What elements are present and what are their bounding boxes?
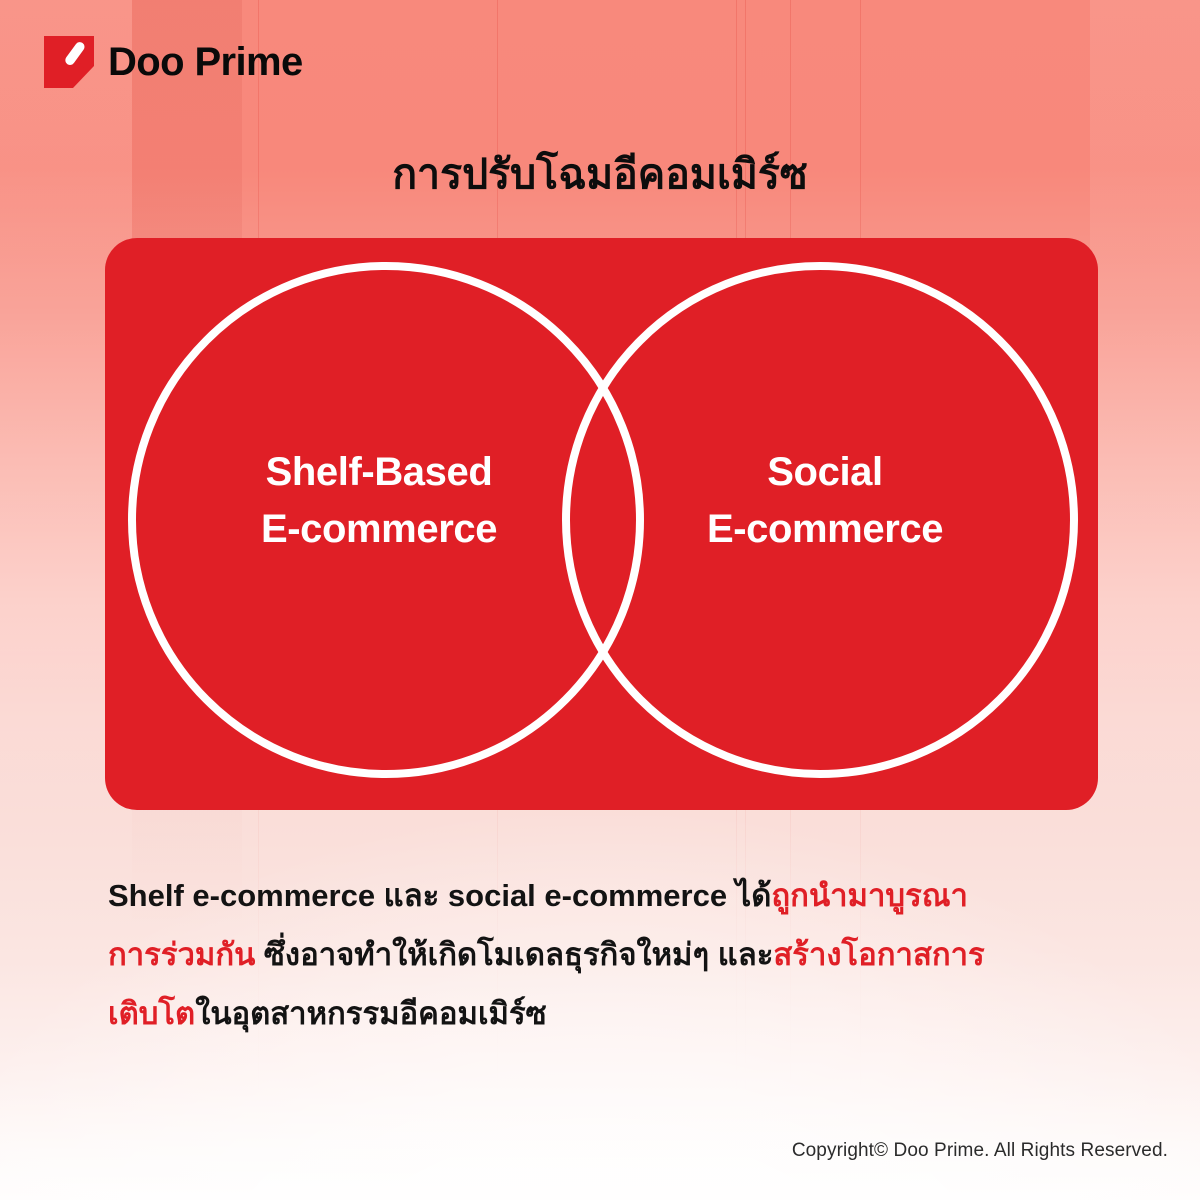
venn-label-right: Social E-commerce [575, 444, 1075, 558]
venn-diagram-card: Shelf-Based E-commerce Social E-commerce [105, 238, 1098, 810]
body-text-plain: Shelf e-commerce และ social e-commerce ไ… [108, 878, 771, 913]
body-line: Shelf e-commerce และ social e-commerce ไ… [108, 866, 1128, 925]
copyright-notice: Copyright© Doo Prime. All Rights Reserve… [792, 1140, 1168, 1162]
venn-label-left: Shelf-Based E-commerce [129, 444, 629, 558]
poster-canvas: Doo Prime การปรับโฉมอีคอมเมิร์ซ Shelf-Ba… [0, 0, 1200, 1200]
body-text-highlight: ถูกนำมาบูรณา [771, 878, 967, 913]
doo-prime-mark-icon [44, 36, 94, 88]
page-title: การปรับโฉมอีคอมเมิร์ซ [0, 148, 1200, 201]
body-line: เติบโตในอุตสาหกรรมอีคอมเมิร์ซ [108, 984, 1128, 1043]
body-text-plain: ในอุตสาหกรรมอีคอมเมิร์ซ [195, 996, 546, 1031]
body-text-highlight: เติบโต [108, 996, 195, 1031]
body-line: การร่วมกัน ซึ่งอาจทำให้เกิดโมเดลธุรกิจให… [108, 925, 1128, 984]
body-text-highlight: การร่วมกัน [108, 937, 255, 972]
body-text-plain: ซึ่งอาจทำให้เกิดโมเดลธุรกิจใหม่ๆ และ [255, 937, 773, 972]
brand-logo: Doo Prime [44, 36, 303, 88]
body-paragraph: Shelf e-commerce และ social e-commerce ไ… [108, 866, 1128, 1043]
body-text-highlight: สร้างโอกาสการ [773, 937, 984, 972]
brand-name: Doo Prime [108, 42, 303, 82]
